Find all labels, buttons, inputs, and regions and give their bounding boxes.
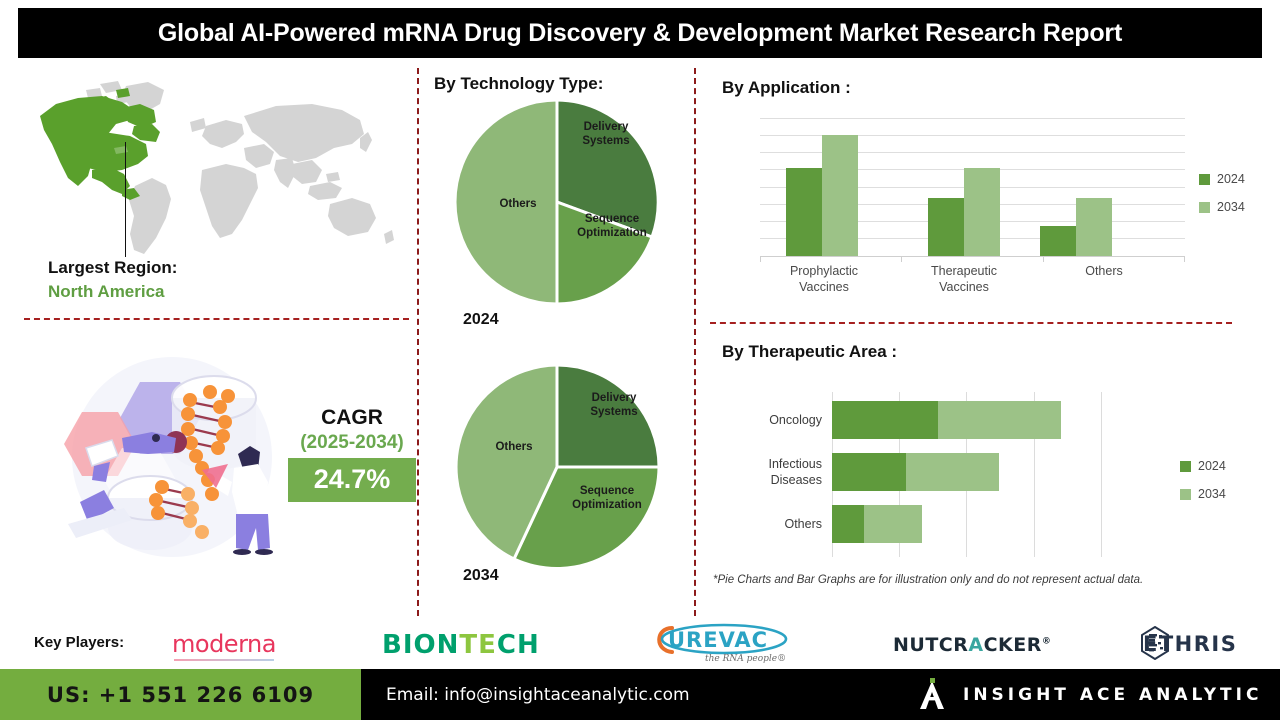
legend-item-2034: 2034 xyxy=(1199,200,1245,214)
svg-text:UREVAC: UREVAC xyxy=(668,628,768,652)
hcat-line1: Infectious xyxy=(768,457,822,471)
moderna-logo-underline xyxy=(174,659,274,661)
nutcracker-trademark: ® xyxy=(1042,637,1052,647)
cat-line1: Others xyxy=(1085,264,1123,278)
footer-brand-block: INSIGHT ACE ANALYTIC xyxy=(915,669,1262,720)
cat-line2: Vaccines xyxy=(799,280,849,294)
legend-label-2024: 2024 xyxy=(1217,172,1245,186)
legend-swatch-2024 xyxy=(1180,461,1191,472)
pie-2024-sequence-line2: Optimization xyxy=(577,227,647,239)
bar-therapeutic-2024 xyxy=(928,198,964,256)
therapeutic-bar-chart xyxy=(832,392,1132,557)
legend-label-2034: 2034 xyxy=(1217,200,1245,214)
legend-item-2034: 2034 xyxy=(1180,487,1226,501)
pie-2024-delivery-line2: Systems xyxy=(582,135,629,147)
hbar-others-2034 xyxy=(864,505,922,543)
page-title: Global AI-Powered mRNA Drug Discovery & … xyxy=(158,19,1122,48)
map-pointer-line xyxy=(125,142,126,257)
hcat-line1: Oncology xyxy=(769,413,822,427)
technology-type-title: By Technology Type: xyxy=(434,74,603,94)
bar-prophylactic-2024 xyxy=(786,168,822,256)
legend-item-2024: 2024 xyxy=(1180,459,1226,473)
footer-phone-block: US: +1 551 226 6109 xyxy=(0,669,361,720)
pie-2034-sequence-line1: Sequence xyxy=(580,485,634,497)
nutcracker-logo: NUTCRACKER® xyxy=(893,634,1051,656)
ethris-logo: ETHRIS xyxy=(1143,632,1237,656)
pie-2034-delivery-line1: Delivery xyxy=(592,392,637,404)
axis-tick xyxy=(1043,256,1044,262)
cat-line1: Therapeutic xyxy=(931,264,997,278)
cagr-title: CAGR xyxy=(288,405,416,431)
category-therapeutic-vaccines: Therapeutic Vaccines xyxy=(900,263,1028,295)
bar-others-2034 xyxy=(1076,198,1112,256)
gridline xyxy=(760,118,1185,119)
svg-text:the RNA people®: the RNA people® xyxy=(705,654,786,664)
category-others: Others xyxy=(1040,263,1168,279)
hbar-oncology-2024 xyxy=(832,401,938,439)
hcategory-oncology: Oncology xyxy=(712,412,822,428)
axis-tick xyxy=(760,256,761,262)
pie-2024-delivery-line1: Delivery xyxy=(584,121,629,133)
pie-2034-delivery-line2: Systems xyxy=(590,406,637,418)
chart-footnote: *Pie Charts and Bar Graphs are for illus… xyxy=(713,574,1143,586)
hcat-line2: Diseases xyxy=(771,473,822,487)
pie-2024-label-others: Others xyxy=(488,197,548,211)
cagr-years: (2025-2034) xyxy=(288,431,416,455)
pie-2024-label-sequence: Sequence Optimization xyxy=(563,212,661,240)
cat-line2: Vaccines xyxy=(939,280,989,294)
moderna-logo: moderna xyxy=(172,630,276,658)
legend-swatch-2034 xyxy=(1180,489,1191,500)
pie-2024-sequence-line1: Sequence xyxy=(585,213,639,225)
horizontal-divider-left xyxy=(24,318,409,320)
pie-2034-year: 2034 xyxy=(463,567,499,585)
pie-2034-label-delivery: Delivery Systems xyxy=(568,391,660,419)
axis-tick xyxy=(1184,256,1185,262)
nutcracker-text: NUTCRACKER xyxy=(893,634,1042,656)
footer-phone: US: +1 551 226 6109 xyxy=(47,683,314,707)
application-title: By Application : xyxy=(722,78,851,98)
largest-region-label: Largest Region: xyxy=(48,258,177,278)
gridline xyxy=(1101,392,1102,557)
bar-prophylactic-2034 xyxy=(822,135,858,256)
hcategory-infectious-diseases: Infectious Diseases xyxy=(712,456,822,488)
category-prophylactic-vaccines: Prophylactic Vaccines xyxy=(760,263,888,295)
bar-others-2024 xyxy=(1040,226,1076,256)
key-players-label: Key Players: xyxy=(34,634,124,651)
pie-2034-sequence-line2: Optimization xyxy=(572,499,642,511)
footer-email: Email: info@insightaceanalytic.com xyxy=(386,685,690,705)
legend-swatch-2024 xyxy=(1199,174,1210,185)
legend-item-2024: 2024 xyxy=(1199,172,1245,186)
cagr-block: CAGR (2025-2034) 24.7% xyxy=(288,405,416,502)
pie-2034-label-others: Others xyxy=(484,440,544,454)
vertical-divider-left xyxy=(417,68,419,616)
legend-label-2034: 2034 xyxy=(1198,487,1226,501)
application-legend: 2024 2034 xyxy=(1199,172,1245,228)
biontech-logo: BIONTECH xyxy=(382,630,540,660)
pie-2024-year: 2024 xyxy=(463,311,499,329)
curevac-logo: UREVAC the RNA people® xyxy=(650,618,795,666)
hbar-infectious-2024 xyxy=(832,453,906,491)
largest-region-value: North America xyxy=(48,282,165,302)
hbar-oncology-2034 xyxy=(938,401,1061,439)
x-axis-line xyxy=(760,256,1185,257)
legend-label-2024: 2024 xyxy=(1198,459,1226,473)
hcat-line1: Others xyxy=(784,517,822,531)
vertical-divider-right xyxy=(694,68,696,616)
insightace-logo-icon xyxy=(915,678,949,712)
application-bar-chart xyxy=(760,118,1185,256)
hbar-others-2024 xyxy=(832,505,864,543)
footer-brand-name: INSIGHT ACE ANALYTIC xyxy=(963,685,1262,705)
hcategory-others: Others xyxy=(712,516,822,532)
biontech-part-ch: CH xyxy=(497,630,540,660)
cagr-value: 24.7% xyxy=(288,458,416,502)
axis-tick xyxy=(901,256,902,262)
legend-swatch-2034 xyxy=(1199,202,1210,213)
horizontal-divider-right xyxy=(710,322,1232,324)
pie-2024-label-delivery: Delivery Systems xyxy=(560,120,652,148)
research-illustration xyxy=(52,352,287,567)
therapeutic-area-title: By Therapeutic Area : xyxy=(722,342,897,362)
header-bar: Global AI-Powered mRNA Drug Discovery & … xyxy=(18,8,1262,58)
world-map xyxy=(30,78,405,263)
biontech-part-bion: BION xyxy=(382,630,459,660)
cat-line1: Prophylactic xyxy=(790,264,858,278)
biontech-part-te: TE xyxy=(459,630,497,660)
pie-2034-label-sequence: Sequence Optimization xyxy=(558,484,656,512)
therapeutic-legend: 2024 2034 xyxy=(1180,459,1226,515)
infographic-page: Global AI-Powered mRNA Drug Discovery & … xyxy=(0,0,1280,720)
hbar-infectious-2034 xyxy=(906,453,999,491)
bar-therapeutic-2034 xyxy=(964,168,1000,256)
